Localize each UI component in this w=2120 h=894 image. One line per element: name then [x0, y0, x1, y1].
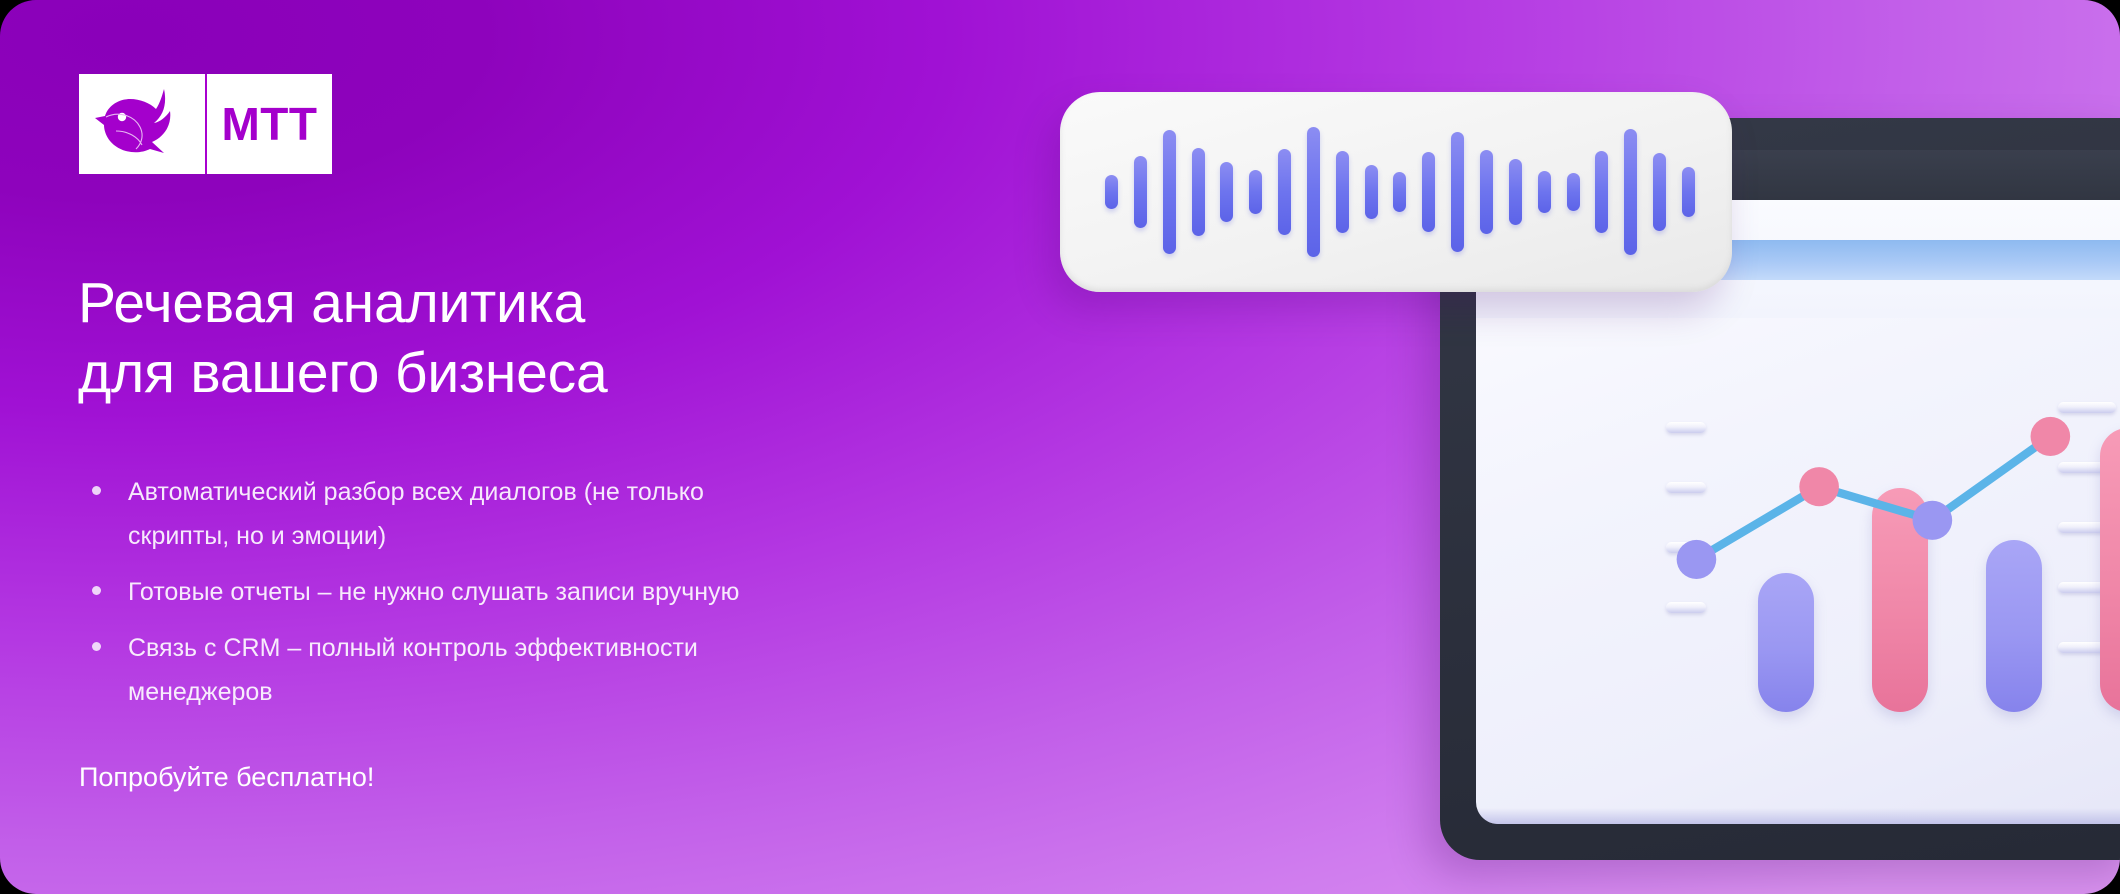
waveform-bar [1451, 132, 1464, 252]
waveform-bar [1220, 162, 1233, 222]
bullet-dot-icon [92, 586, 101, 595]
waveform-bar [1509, 159, 1522, 225]
logo-wordmark: МТТ [221, 97, 317, 151]
waveform-bar [1595, 151, 1608, 233]
waveform-bar [1624, 129, 1637, 255]
chart-trend-line [1536, 360, 2120, 770]
waveform-bar [1192, 148, 1205, 236]
analytics-chart [1536, 360, 2120, 770]
waveform-bar [1422, 152, 1435, 232]
promo-banner: МТТ Речевая аналитика для вашего бизнеса… [0, 0, 2120, 894]
waveform-bar [1480, 150, 1493, 234]
chart-data-point [1799, 467, 1839, 506]
mtt-logo[interactable]: МТТ [79, 74, 332, 174]
list-item-label: Связь с CRM – полный контроль эффективно… [128, 626, 698, 714]
speech-bubble [1060, 92, 1732, 292]
waveform-bar [1307, 127, 1320, 257]
bird-icon [94, 87, 190, 161]
hero-illustration [1060, 0, 2120, 894]
waveform-bar [1393, 172, 1406, 212]
waveform-bar [1682, 167, 1695, 217]
page-title: Речевая аналитика для вашего бизнеса [78, 268, 607, 408]
chart-data-point [1677, 540, 1717, 579]
cta-text[interactable]: Попробуйте бесплатно! [79, 762, 374, 793]
list-item: Автоматический разбор всех диалогов (не … [92, 470, 1012, 558]
waveform-bar [1134, 156, 1147, 228]
list-item: Готовые отчеты – не нужно слушать записи… [92, 570, 1012, 614]
logo-text-panel: МТТ [207, 74, 332, 174]
waveform-bar [1336, 151, 1349, 233]
waveform-bar [1653, 153, 1666, 231]
audio-waveform [1105, 92, 1695, 292]
list-item: Связь с CRM – полный контроль эффективно… [92, 626, 1012, 714]
logo-bird-panel [79, 74, 205, 174]
waveform-bar [1163, 130, 1176, 254]
bullet-dot-icon [92, 486, 101, 495]
chart-data-point [2031, 417, 2071, 456]
waveform-bar [1249, 170, 1262, 214]
waveform-bar [1365, 165, 1378, 219]
waveform-bar [1105, 175, 1118, 209]
chart-data-point [1913, 501, 1953, 540]
list-item-label: Готовые отчеты – не нужно слушать записи… [128, 570, 739, 614]
waveform-bar [1278, 149, 1291, 235]
bullet-dot-icon [92, 642, 101, 651]
list-item-label: Автоматический разбор всех диалогов (не … [128, 470, 704, 558]
waveform-bar [1567, 173, 1580, 211]
waveform-bar [1538, 171, 1551, 213]
feature-list: Автоматический разбор всех диалогов (не … [92, 470, 1012, 726]
banner-content: МТТ Речевая аналитика для вашего бизнеса… [0, 0, 1100, 894]
